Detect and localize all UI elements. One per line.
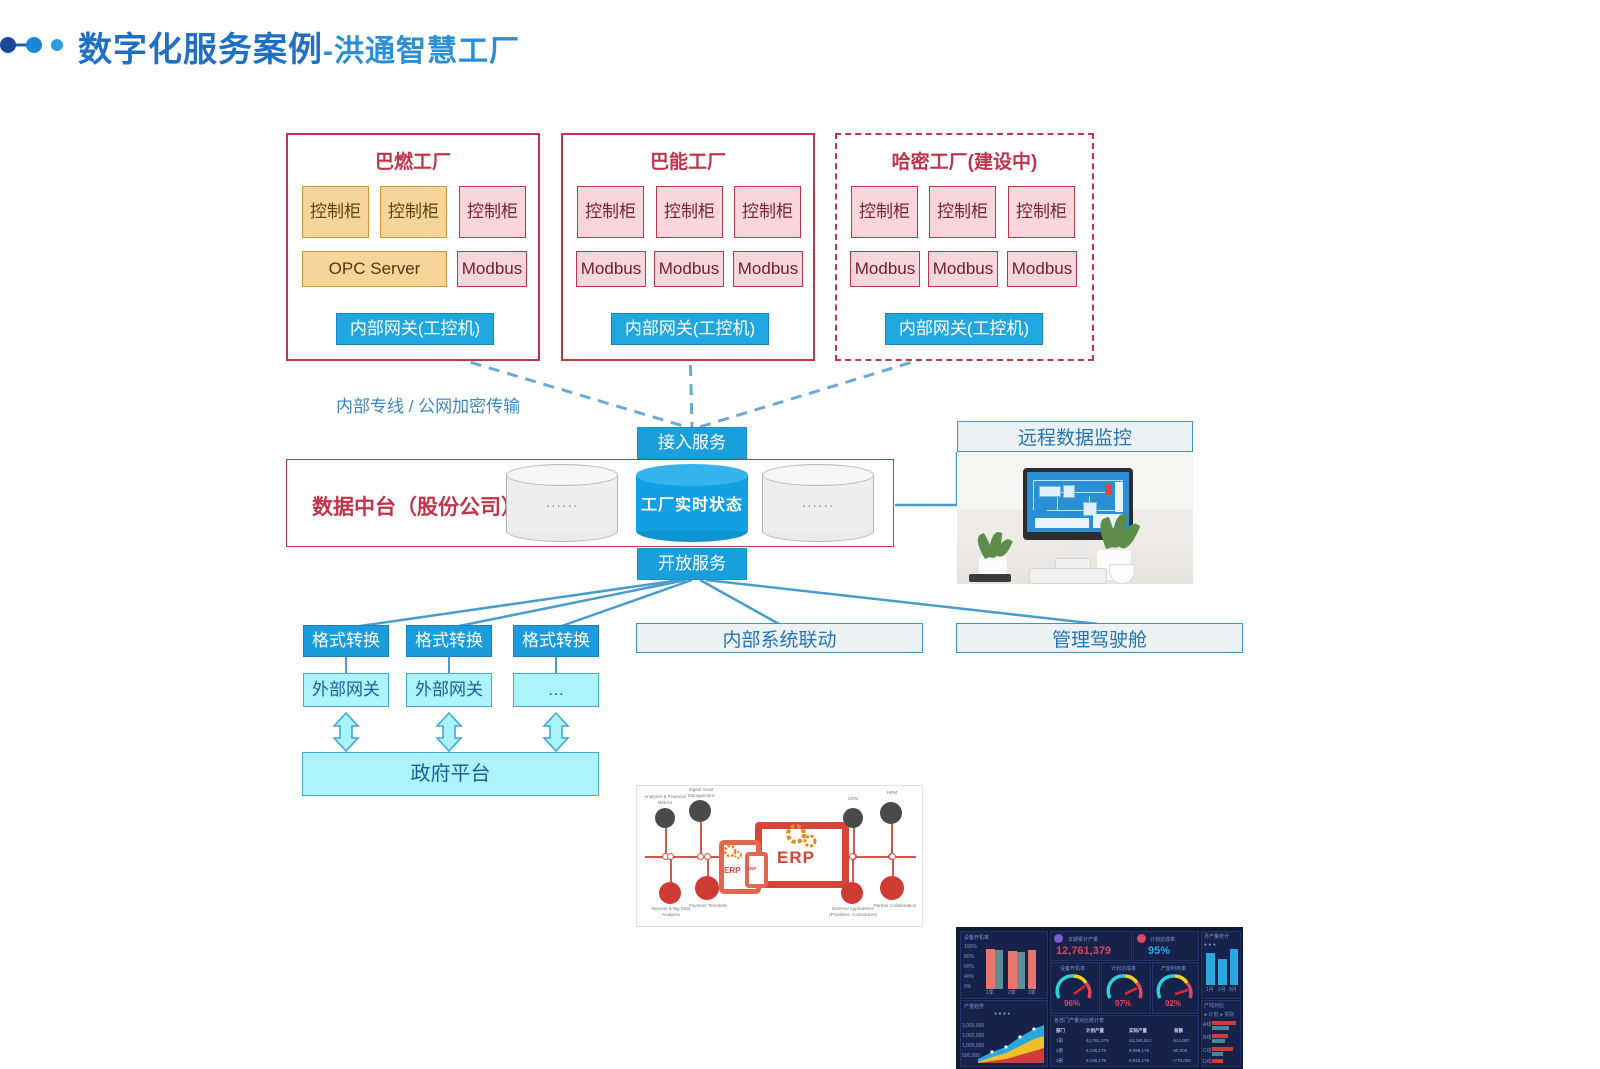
protocol-modbus[interactable]: Modbus bbox=[850, 251, 920, 287]
internal-gateway[interactable]: 内部网关(工控机) bbox=[336, 313, 494, 345]
page-title-main: 数字化服务案例 bbox=[78, 31, 323, 69]
government-platform[interactable]: 政府平台 bbox=[302, 752, 599, 796]
external-gateway[interactable]: 外部网关 bbox=[303, 673, 389, 707]
table-cell: 42,761,379 bbox=[1086, 1038, 1109, 1043]
table-header-cell: 计划产量 bbox=[1086, 1028, 1104, 1034]
gauge-label: 计划达成率 bbox=[1111, 965, 1136, 972]
ingress-service-node[interactable]: 接入服务 bbox=[637, 427, 747, 459]
data-store-cylinder-realtime[interactable]: 工厂实时状态 bbox=[636, 464, 748, 542]
table-cell: 8,096,178 bbox=[1129, 1048, 1149, 1053]
gauge-value: 97% bbox=[1115, 999, 1131, 1008]
format-converter[interactable]: 格式转换 bbox=[303, 625, 389, 657]
internal-gateway[interactable]: 内部网关(工控机) bbox=[885, 313, 1043, 345]
table-cell: -50,000 bbox=[1172, 1048, 1187, 1053]
table-cell: 9,916,178 bbox=[1129, 1058, 1149, 1063]
transport-label: 内部专线 / 公网加密传输 bbox=[336, 392, 520, 417]
factory-title: 哈密工厂(建设中) bbox=[837, 147, 1092, 174]
erp-center-label: ERP bbox=[777, 848, 815, 868]
control-cabinet[interactable]: 控制柜 bbox=[459, 186, 526, 238]
factory-title: 巴燃工厂 bbox=[288, 147, 538, 174]
erp-infographic: ERP ERP ERP Analytics & Financial Metric… bbox=[636, 785, 923, 927]
internal-gateway[interactable]: 内部网关(工控机) bbox=[611, 313, 769, 345]
protocol-modbus[interactable]: Modbus bbox=[457, 251, 527, 287]
control-cabinet[interactable]: 控制柜 bbox=[851, 186, 918, 238]
control-cabinet[interactable]: 控制柜 bbox=[577, 186, 644, 238]
erp-tablet-label: ERP bbox=[724, 866, 740, 875]
erp-node-label: HRM bbox=[875, 790, 909, 796]
page-title-separator: - bbox=[323, 35, 334, 68]
table-cell: 1部 bbox=[1056, 1038, 1063, 1044]
external-gateway-more[interactable]: … bbox=[513, 673, 599, 707]
data-store-cylinder[interactable]: ...... bbox=[506, 464, 618, 542]
erp-node-label: CRM bbox=[835, 796, 871, 802]
table-cell: 2部 bbox=[1056, 1048, 1063, 1054]
erp-node-label: Digital Asset Management bbox=[677, 787, 725, 798]
control-cabinet[interactable]: 控制柜 bbox=[380, 186, 447, 238]
table-header-cell: 部门 bbox=[1056, 1028, 1065, 1034]
table-cell: 3部 bbox=[1056, 1058, 1063, 1064]
kpi-value: 95% bbox=[1148, 945, 1170, 957]
table-cell: 9,146,178 bbox=[1086, 1058, 1106, 1063]
panel-title-internal-systems: 内部系统联动 bbox=[636, 623, 923, 653]
page-title-sub: 洪通智慧工厂 bbox=[334, 35, 520, 68]
format-converter[interactable]: 格式转换 bbox=[513, 625, 599, 657]
gauge-value: 92% bbox=[1165, 999, 1181, 1008]
gauge-value: 96% bbox=[1064, 999, 1080, 1008]
panel-title-management-cockpit: 管理驾驶舱 bbox=[956, 623, 1243, 653]
kpi-label: 计划达成率 bbox=[1150, 936, 1175, 943]
gauge-label: 设备开机率 bbox=[1060, 965, 1085, 972]
table-cell: 42,246,512 bbox=[1129, 1038, 1152, 1043]
control-cabinet[interactable]: 控制柜 bbox=[1008, 186, 1075, 238]
table-header-cell: 实际产量 bbox=[1129, 1028, 1147, 1034]
data-store-label: 工厂实时状态 bbox=[636, 491, 748, 515]
erp-phone-label: ERP bbox=[747, 866, 756, 871]
table-cell: +770,000 bbox=[1172, 1058, 1191, 1063]
protocol-opc-server[interactable]: OPC Server bbox=[302, 251, 447, 287]
bi-dashboard: 设备开机率 100% 80% 60% 40% 0% 1季 2季 3季 产量趋势 … bbox=[956, 927, 1243, 1069]
protocol-modbus[interactable]: Modbus bbox=[733, 251, 803, 287]
protocol-modbus[interactable]: Modbus bbox=[654, 251, 724, 287]
erp-node-label: Partner Collaboration bbox=[873, 903, 917, 909]
data-store-label: ...... bbox=[506, 494, 618, 512]
table-cell: -514,867 bbox=[1172, 1038, 1190, 1043]
egress-service-node[interactable]: 开放服务 bbox=[637, 548, 747, 580]
control-cabinet[interactable]: 控制柜 bbox=[929, 186, 996, 238]
control-cabinet[interactable]: 控制柜 bbox=[734, 186, 801, 238]
page-title: 数字化服务案例-洪通智慧工厂 bbox=[78, 22, 520, 71]
kpi-value: 12,761,379 bbox=[1056, 945, 1111, 957]
control-cabinet[interactable]: 控制柜 bbox=[302, 186, 369, 238]
bidirectional-arrow-icon bbox=[435, 712, 463, 757]
kpi-label: 本期累计产量 bbox=[1068, 936, 1098, 943]
table-header-cell: 差额 bbox=[1174, 1028, 1183, 1034]
factory-title: 巴能工厂 bbox=[563, 147, 813, 174]
format-converter[interactable]: 格式转换 bbox=[406, 625, 492, 657]
bidirectional-arrow-icon bbox=[542, 712, 570, 757]
panel-title-remote-monitor: 远程数据监控 bbox=[957, 421, 1193, 452]
table-cell: 8,146,178 bbox=[1086, 1048, 1106, 1053]
protocol-modbus[interactable]: Modbus bbox=[1007, 251, 1077, 287]
bidirectional-arrow-icon bbox=[332, 712, 360, 757]
protocol-modbus[interactable]: Modbus bbox=[576, 251, 646, 287]
gauge-label: 产能利用率 bbox=[1161, 965, 1186, 972]
data-platform-title: 数据中台（股份公司） bbox=[312, 491, 522, 521]
protocol-modbus[interactable]: Modbus bbox=[928, 251, 998, 287]
data-store-cylinder[interactable]: ...... bbox=[762, 464, 874, 542]
external-gateway[interactable]: 外部网关 bbox=[406, 673, 492, 707]
data-store-label: ...... bbox=[762, 494, 874, 512]
dots-connector-icon bbox=[0, 33, 66, 57]
erp-node-label: Payment Terminals bbox=[683, 903, 733, 909]
slide-canvas: 数字化服务案例-洪通智慧工厂 巴燃工厂 控制 bbox=[0, 0, 1600, 900]
control-cabinet[interactable]: 控制柜 bbox=[656, 186, 723, 238]
remote-monitor-photo bbox=[957, 452, 1193, 584]
